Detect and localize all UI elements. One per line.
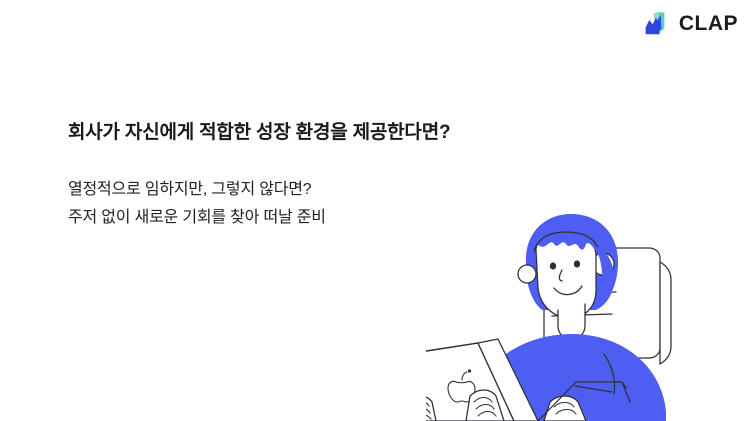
- slide-canvas: CLAP 회사가 자신에게 적합한 성장 환경을 제공한다면? 열정적으로 임하…: [0, 0, 756, 421]
- body-line-1: 열정적으로 임하지만, 그렇지 않다면?: [68, 176, 326, 204]
- body-line-2: 주저 없이 새로운 기회를 찾아 떠날 준비: [68, 204, 326, 232]
- clap-logo-mark-icon: [644, 11, 672, 36]
- brand-logo: CLAP: [644, 9, 738, 37]
- slide-body-copy: 열정적으로 임하지만, 그렇지 않다면? 주저 없이 새로운 기회를 찾아 떠날…: [68, 176, 326, 233]
- person-working-on-laptop-illustration: [426, 206, 756, 421]
- slide-headline: 회사가 자신에게 적합한 성장 환경을 제공한다면?: [68, 120, 450, 146]
- brand-wordmark: CLAP: [679, 13, 738, 34]
